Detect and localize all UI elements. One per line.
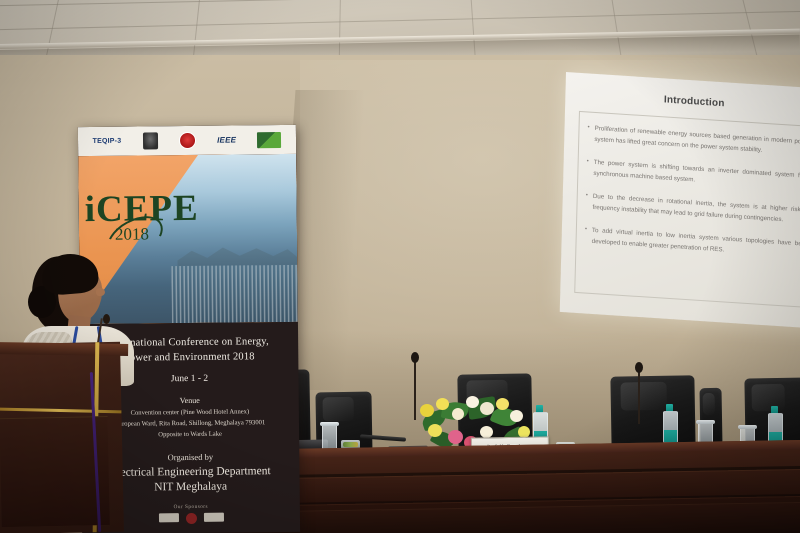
slide-bullet-text: Proliferation of renewable energy source… xyxy=(594,123,800,160)
sponsor-logo-1 xyxy=(158,513,178,522)
slide-bullet-text: Due to the decrease in rotational inerti… xyxy=(592,191,800,228)
podium xyxy=(0,342,124,533)
table-microphone-stem-2 xyxy=(638,368,640,424)
water-bottle-3 xyxy=(768,406,781,444)
podium-microphone-icon xyxy=(103,314,110,324)
sponsor-logo-2 xyxy=(185,513,196,524)
bullet-marker-icon: • xyxy=(585,190,588,213)
seal-logo xyxy=(179,132,196,149)
nit-green-logo xyxy=(257,132,281,148)
presentation-scene: Introduction • Proliferation of renewabl… xyxy=(0,0,800,533)
table-microphone-icon xyxy=(411,352,419,363)
bullet-marker-icon: • xyxy=(587,122,590,145)
bottle-label xyxy=(664,430,677,442)
presenter-nose xyxy=(96,288,105,296)
poster-logo-strip: TEQIP-3 IEEE xyxy=(78,125,296,156)
slide-bullet-text: The power system is shifting towards an … xyxy=(593,157,800,194)
bullet-marker-icon: • xyxy=(584,224,587,247)
slide-bullet: • To add virtual inertia to low inertia … xyxy=(584,224,800,261)
glass-lid xyxy=(738,425,757,429)
sponsor-logo-3 xyxy=(203,513,223,522)
table-microphone-icon-2 xyxy=(635,362,643,373)
chair-4 xyxy=(610,375,695,450)
water-bottle-2 xyxy=(663,404,676,442)
slide-body: • Proliferation of renewable energy sour… xyxy=(574,111,800,308)
glass-lid xyxy=(320,422,339,426)
podium-gold-trim-horizontal xyxy=(0,408,121,414)
teqip-logo: TEQIP-3 xyxy=(93,138,122,145)
glass-lid xyxy=(696,420,715,424)
poster-acronym-block: iCEPE 2018 xyxy=(85,191,216,246)
slide-bullet: • The power system is shifting towards a… xyxy=(586,156,800,193)
slide-bullet: • Due to the decrease in rotational iner… xyxy=(585,190,800,227)
slide-bullet-text: To add virtual inertia to low inertia sy… xyxy=(592,225,800,262)
bullet-marker-icon: • xyxy=(586,156,589,179)
table-microphone-stem xyxy=(414,358,416,420)
govt-emblem-logo xyxy=(142,132,157,149)
podium-top-surface xyxy=(0,342,128,356)
projected-slide: Introduction • Proliferation of renewabl… xyxy=(560,72,800,329)
water-glass-1 xyxy=(322,425,337,451)
ieee-logo: IEEE xyxy=(217,135,236,144)
slide-bullet: • Proliferation of renewable energy sour… xyxy=(587,122,800,159)
